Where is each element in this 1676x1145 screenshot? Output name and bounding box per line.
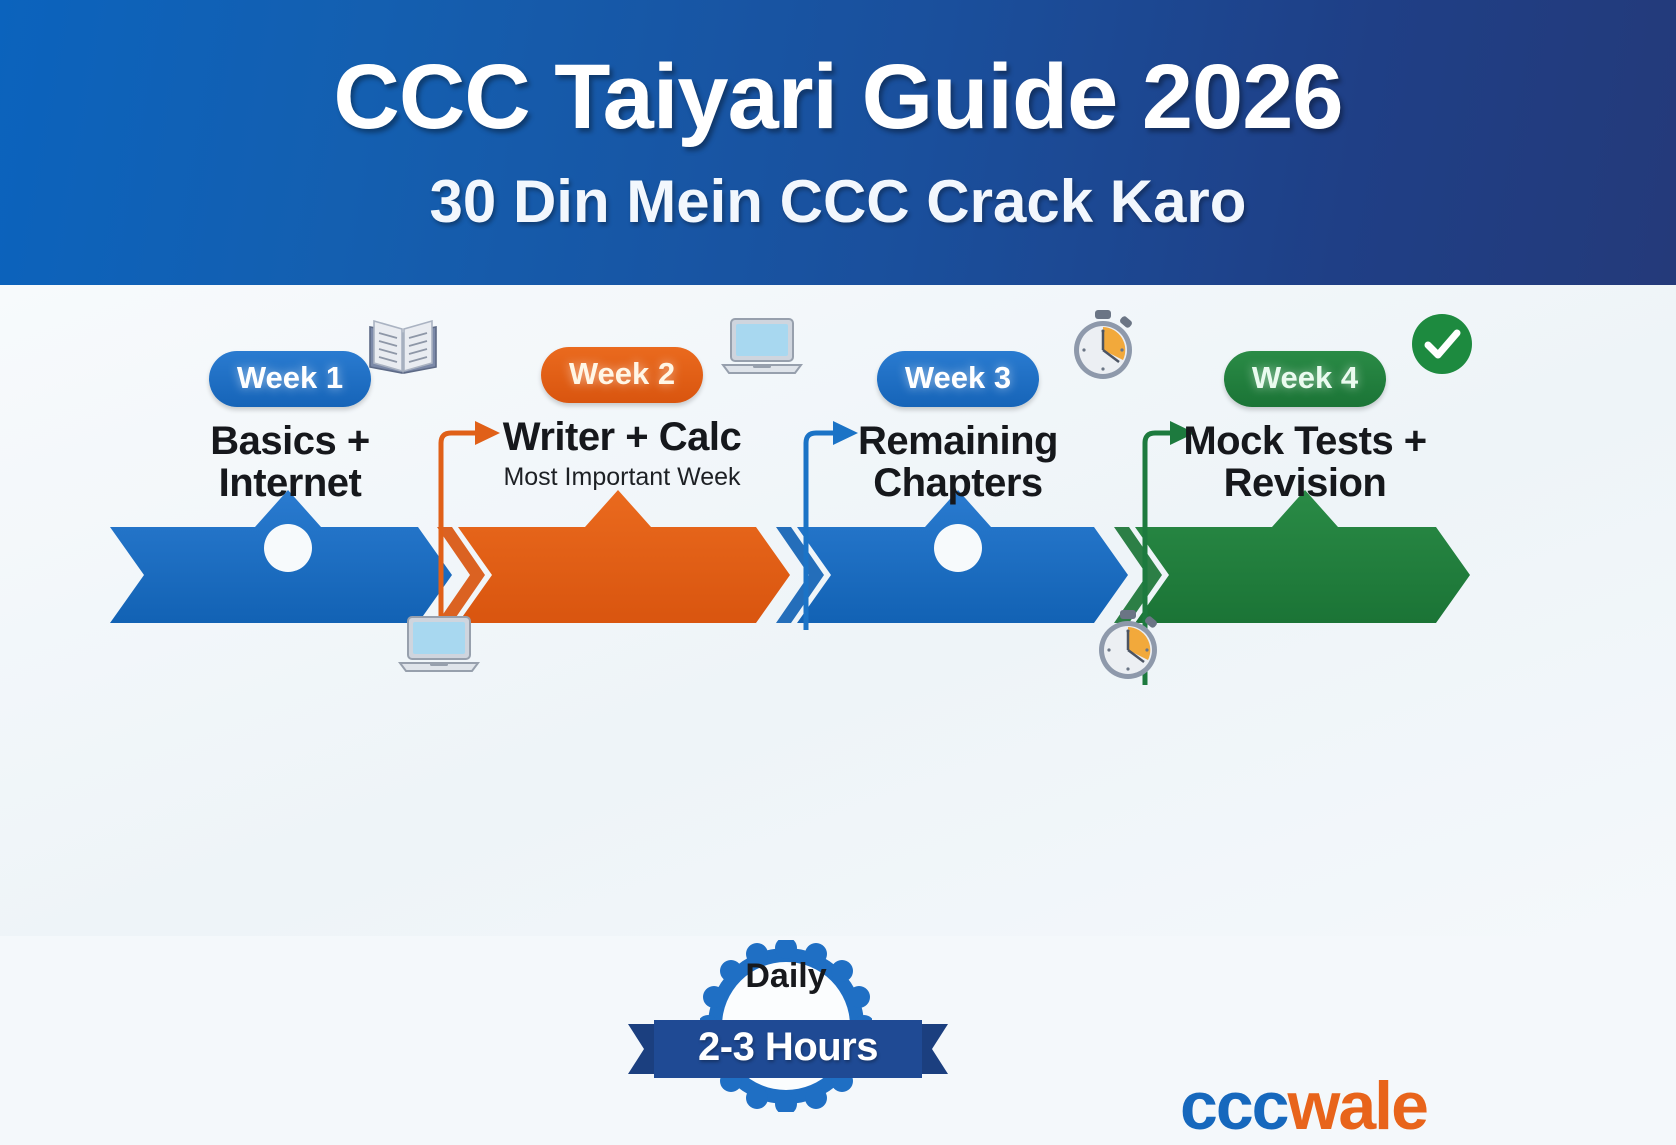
stopwatch-icon-bottom xyxy=(1099,610,1158,679)
segment-separator-3 xyxy=(1114,527,1162,623)
week-badge-3[interactable]: Week 3 xyxy=(877,351,1039,407)
cccwale-logo[interactable]: cccwale xyxy=(1180,1067,1427,1145)
segment-separator-2 xyxy=(776,527,824,623)
week-badge-2[interactable]: Week 2 xyxy=(541,347,703,403)
timeline-segment-4 xyxy=(1135,490,1470,623)
week-title-3-line1: Remaining xyxy=(788,420,1128,462)
week-block-2: Week 2 Writer + Calc Most Important Week xyxy=(432,347,812,492)
week-title-1: Basics + Internet xyxy=(90,420,490,504)
week-title-3: Remaining Chapters xyxy=(788,420,1128,504)
week-title-2-line1: Writer + Calc xyxy=(432,416,812,458)
week-badge-4[interactable]: Week 4 xyxy=(1224,351,1386,407)
week-subtitle-2: Most Important Week xyxy=(432,463,812,492)
logo-part-orange: wale xyxy=(1287,1068,1426,1144)
timeline-segment-2 xyxy=(458,490,790,623)
timeline-stage: Week 1 Basics + Internet Week 2 Writer +… xyxy=(0,285,1676,936)
week-title-4-line2: Revision xyxy=(1135,462,1475,504)
week-block-3: Week 3 Remaining Chapters xyxy=(788,351,1128,504)
week-title-1-line1: Basics + xyxy=(90,420,490,462)
logo-part-blue: ccc xyxy=(1180,1068,1287,1144)
timeline-segment-1 xyxy=(110,490,452,623)
week-block-4: Week 4 Mock Tests + Revision xyxy=(1135,351,1475,504)
header-banner: CCC Taiyari Guide 2026 30 Din Mein CCC C… xyxy=(0,0,1676,285)
week-block-1: Week 1 Basics + Internet xyxy=(90,351,490,504)
timeline-segment-3 xyxy=(797,490,1128,623)
seal-ribbon-text: 2-3 Hours xyxy=(628,1025,948,1070)
laptop-icon-bottom xyxy=(400,617,478,671)
week-title-2: Writer + Calc xyxy=(432,416,812,458)
week-title-4: Mock Tests + Revision xyxy=(1135,420,1475,504)
week-badge-1[interactable]: Week 1 xyxy=(209,351,371,407)
week-title-1-line2: Internet xyxy=(90,462,490,504)
week-title-4-line1: Mock Tests + xyxy=(1135,420,1475,462)
seal-label: Daily xyxy=(700,957,872,996)
page-subtitle: 30 Din Mein CCC Crack Karo xyxy=(430,167,1247,236)
segment-separator-1 xyxy=(437,527,485,623)
week-title-3-line2: Chapters xyxy=(788,462,1128,504)
page-title: CCC Taiyari Guide 2026 xyxy=(333,49,1342,146)
